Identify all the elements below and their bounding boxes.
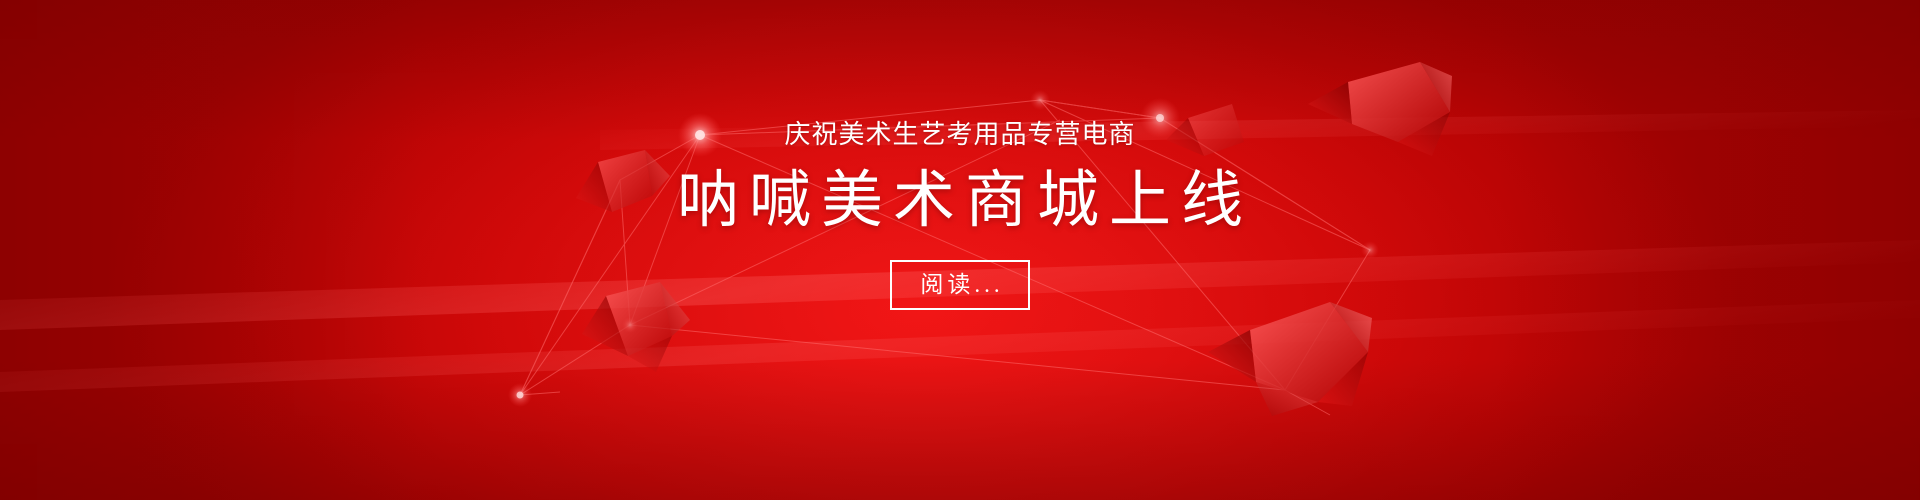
banner-content: 庆祝美术生艺考用品专营电商 呐喊美术商城上线 阅读...	[0, 0, 1920, 500]
banner-subtitle: 庆祝美术生艺考用品专营电商	[784, 118, 1135, 150]
banner-cta-wrapper: 阅读...	[890, 260, 1029, 310]
promo-banner: 庆祝美术生艺考用品专营电商 呐喊美术商城上线 阅读...	[0, 0, 1920, 500]
banner-title: 呐喊美术商城上线	[667, 164, 1253, 238]
read-more-button[interactable]: 阅读...	[890, 260, 1029, 310]
